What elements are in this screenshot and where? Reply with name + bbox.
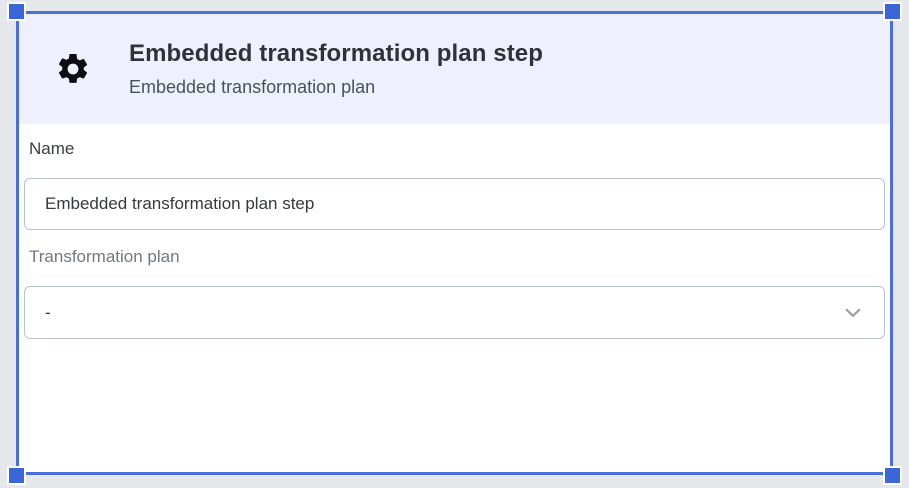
name-field-group: Name Embedded transformation plan step — [24, 138, 885, 230]
node-header-text: Embedded transformation plan step Embedd… — [129, 39, 543, 100]
resize-handle-bottom-left[interactable] — [7, 466, 26, 485]
node-card[interactable]: Embedded transformation plan step Embedd… — [19, 14, 890, 472]
node-subtitle: Embedded transformation plan — [129, 74, 543, 100]
resize-handle-top-right[interactable] — [883, 2, 902, 21]
transformation-plan-field-group: Transformation plan - — [24, 246, 885, 339]
name-input-value: Embedded transformation plan step — [45, 194, 314, 214]
name-field-label: Name — [24, 138, 885, 160]
transformation-plan-label: Transformation plan — [24, 246, 885, 268]
node-card-header: Embedded transformation plan step Embedd… — [19, 14, 890, 124]
resize-handle-bottom-right[interactable] — [883, 466, 902, 485]
name-input[interactable]: Embedded transformation plan step — [24, 178, 885, 230]
gear-icon — [55, 51, 91, 87]
node-card-body: Name Embedded transformation plan step T… — [19, 138, 890, 339]
chevron-down-icon[interactable] — [840, 300, 866, 326]
transformation-plan-select[interactable]: - — [24, 286, 885, 339]
node-title: Embedded transformation plan step — [129, 39, 543, 69]
resize-handle-top-left[interactable] — [7, 2, 26, 21]
transformation-plan-value: - — [45, 304, 51, 321]
